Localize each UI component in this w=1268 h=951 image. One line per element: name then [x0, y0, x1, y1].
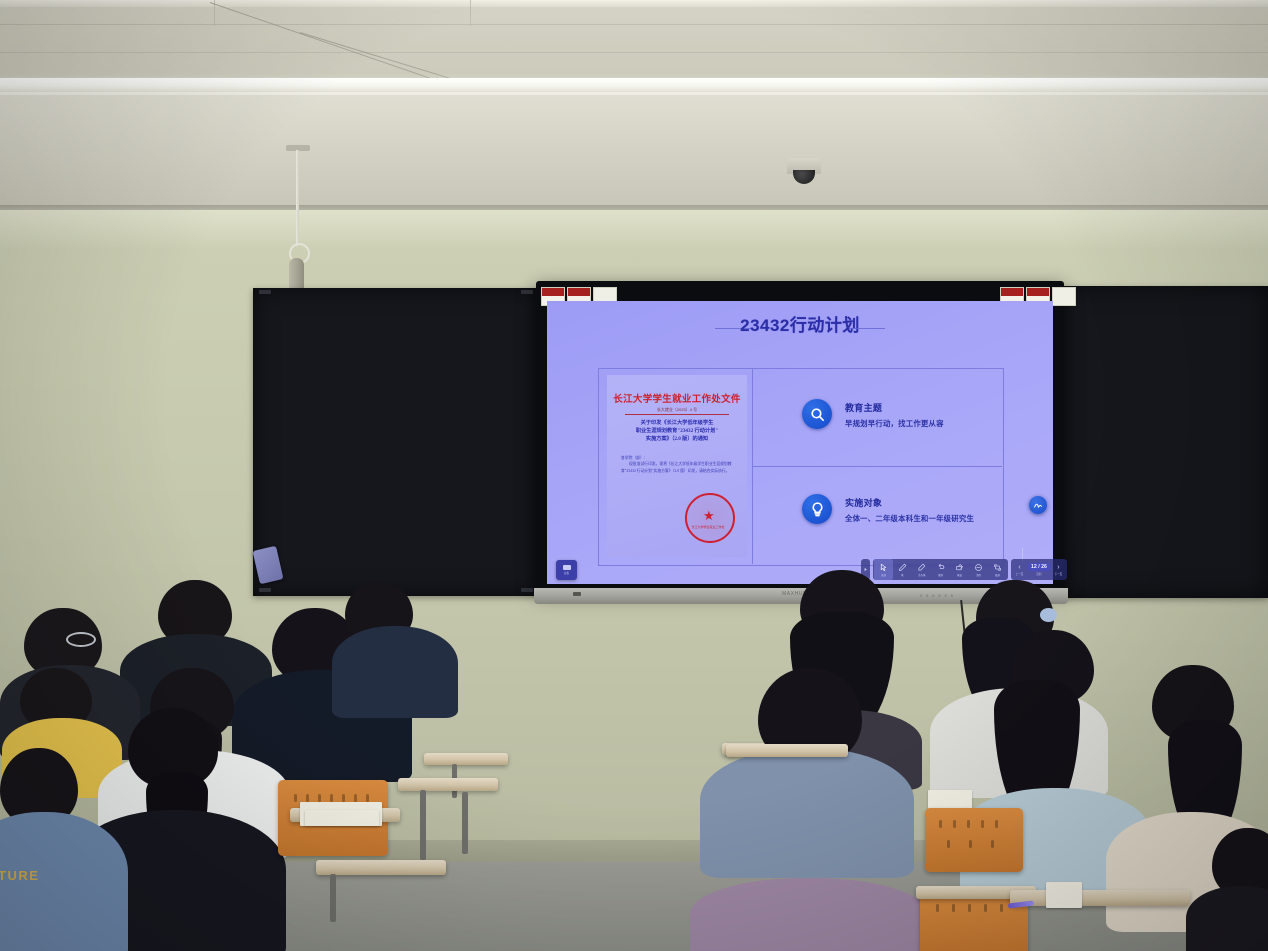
ceiling-light-strip	[0, 78, 1268, 92]
slide-thumbnail[interactable]	[1052, 287, 1076, 306]
desk	[424, 753, 508, 765]
handwrite-icon[interactable]	[1029, 496, 1047, 514]
microphone-cable	[296, 150, 299, 246]
block-heading: 实施对象	[845, 496, 974, 509]
slide-block-target-audience: 实施对象 全体一、二年级本科生和一年级研究生	[802, 494, 974, 524]
search-icon	[802, 399, 832, 429]
blackboard-panel-left	[253, 288, 541, 596]
title-rule-right	[849, 328, 885, 329]
block-body: 早规划早行动，找工作更从容	[845, 418, 944, 429]
chair	[925, 808, 1023, 872]
presentation-slide[interactable]: 23432行动计划 长江大学学生就业工作处文件 长大就业〔2023〕4 号 关于…	[547, 301, 1053, 584]
classroom-photo-scene: · · · · · · 23432行动计划	[0, 0, 1268, 951]
desk	[1010, 890, 1190, 906]
hair-scrunchie	[1040, 608, 1057, 622]
eyeglasses	[66, 632, 96, 647]
block-heading: 教育主题	[845, 401, 944, 414]
official-document-image: 长江大学学生就业工作处文件 长大就业〔2023〕4 号 关于印发《长江大学低年级…	[607, 375, 747, 557]
slide-block-education-theme: 教育主题 早规划早行动，找工作更从容	[802, 399, 944, 429]
seal-text: 长江大学学生就业工作处	[685, 525, 731, 529]
notebook	[1046, 882, 1082, 908]
slide-horizontal-divider	[752, 466, 1002, 467]
blackboard-panel-right	[1058, 286, 1268, 598]
document-body: 各学院（部）： 现批准试行印发。现将《长江大学低年级学生职业生涯规划教育"234…	[621, 455, 737, 474]
document-header: 长江大学学生就业工作处文件	[607, 391, 747, 405]
lightbulb-icon	[802, 494, 832, 524]
document-title: 关于印发《长江大学低年级学生 职业生涯规划教育"23432 行动计划" 实施方案…	[615, 420, 739, 443]
ceiling-soffit	[0, 92, 1268, 212]
desk	[726, 744, 848, 757]
slide-title: 23432行动计划	[547, 311, 1053, 336]
ceiling-light-strip-upper	[0, 0, 1268, 7]
block-body: 全体一、二年级本科生和一年级研究生	[845, 513, 974, 524]
apparel-text: TURE	[0, 868, 39, 883]
desk	[316, 860, 446, 875]
audience-area: UIII TURE	[0, 560, 1268, 951]
document-rule	[625, 414, 729, 415]
document-number: 长大就业〔2023〕4 号	[607, 407, 747, 413]
desk	[398, 778, 498, 791]
paper-sheet	[305, 810, 379, 826]
